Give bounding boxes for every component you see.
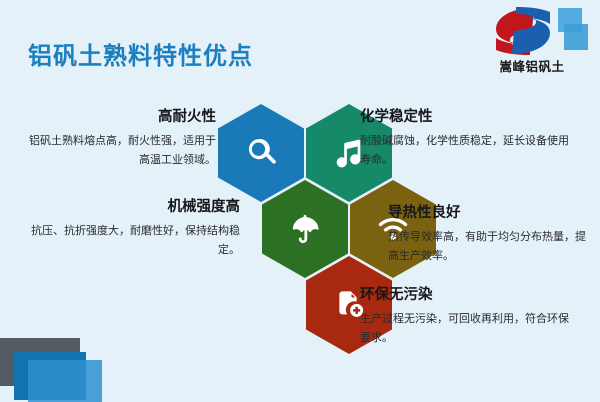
feature-body: 铝矾土熟料熔点高，耐火性强，适用于高温工业领域。 xyxy=(22,131,216,170)
feature-thermal-conductivity: 导热性良好 热传导效率高，有助于均匀分布热量，提高生产效率。 xyxy=(388,204,586,266)
feature-eco-friendly: 环保无污染 生产过程无污染，可回收再利用，符合环保要求。 xyxy=(360,286,576,348)
feature-mechanical-strength: 机械强度高 抗压、抗折强度大，耐磨性好，保持结构稳定。 xyxy=(22,198,240,260)
hex-mechanical-strength[interactable] xyxy=(262,180,348,278)
slide-canvas: 铝矾土熟料特性优点 嵩峰铝矾土 xyxy=(0,0,600,400)
feature-heading: 环保无污染 xyxy=(360,286,576,304)
feature-fire-resistance: 高耐火性 铝矾土熟料熔点高，耐火性强，适用于高温工业领域。 xyxy=(22,108,216,170)
logo: 嵩峰铝矾土 xyxy=(472,4,592,80)
umbrella-icon xyxy=(288,212,322,246)
feature-body: 热传导效率高，有助于均匀分布热量，提高生产效率。 xyxy=(388,227,586,266)
feature-body: 耐酸碱腐蚀，化学性质稳定，延长设备使用寿命。 xyxy=(360,131,570,170)
page-title: 铝矾土熟料特性优点 xyxy=(28,36,253,71)
hex-fire-resistance[interactable] xyxy=(218,104,304,202)
feature-body: 生产过程无污染，可回收再利用，符合环保要求。 xyxy=(360,309,576,348)
feature-body: 抗压、抗折强度大，耐磨性好，保持结构稳定。 xyxy=(22,221,240,260)
search-icon xyxy=(244,136,278,170)
feature-heading: 导热性良好 xyxy=(388,204,586,222)
logo-text: 嵩峰铝矾土 xyxy=(472,56,592,75)
feature-heading: 化学稳定性 xyxy=(360,108,570,126)
logo-mark-icon xyxy=(472,4,592,58)
feature-chemical-stability: 化学稳定性 耐酸碱腐蚀，化学性质稳定，延长设备使用寿命。 xyxy=(360,108,570,170)
feature-heading: 高耐火性 xyxy=(22,108,216,126)
feature-heading: 机械强度高 xyxy=(22,198,240,216)
decor-light-blue-square xyxy=(28,360,102,402)
